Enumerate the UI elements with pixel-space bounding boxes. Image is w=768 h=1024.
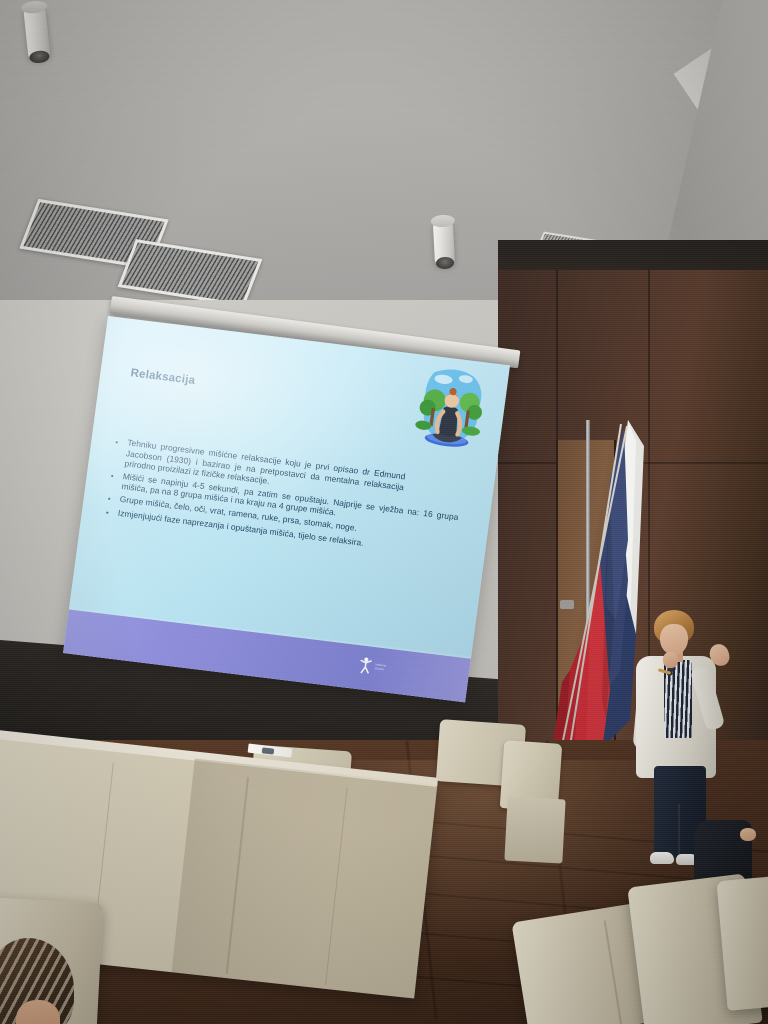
presenter-trouser-seam (678, 804, 680, 858)
chair-seat[interactable] (504, 797, 565, 864)
podium-shadow (171, 758, 437, 998)
ceiling-spotlight-icon (433, 222, 455, 267)
slide-bullet-list: • Tehniku progresivne mišićne relaksacij… (105, 436, 464, 563)
presenter-remote[interactable] (262, 747, 275, 754)
footer-logo: Institucija Zdravlje (358, 656, 418, 680)
conference-room-photo: Relaksacija (0, 0, 768, 1024)
meditation-illustration (408, 360, 493, 456)
slide-surface: Relaksacija (63, 316, 510, 702)
slide-title: Relaksacija (130, 367, 196, 387)
seated-attendee-hand (740, 828, 756, 841)
projection-screen: Relaksacija (63, 316, 510, 702)
presenter-face (660, 624, 688, 655)
stick-figure-logo-icon (358, 656, 373, 674)
presenter-left-hand (663, 652, 678, 668)
presenter-shoe (650, 852, 674, 864)
audience-member-head (0, 938, 74, 1024)
